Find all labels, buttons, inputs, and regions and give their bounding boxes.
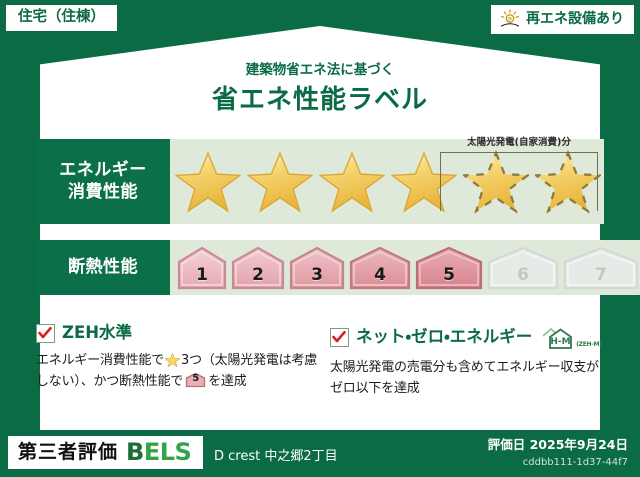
insulation-5-icon-number: 5 [185,371,206,387]
insulation-5-icon: 5 [185,372,206,388]
criteria-zeh-header: ZEH水準 [36,324,324,343]
criteria-net-zero: ネット・ゼロ・エネルギー H-M (ZEH-M) 太陽光発電の売電分も含めてエネ… [330,324,608,399]
insulation-level-5-number: 5 [414,265,484,285]
evaluation-date-value: 2025年9月24日 [530,437,628,452]
insulation-level-2-number: 2 [230,265,286,285]
footer: 第三者評価 BELS D crest 中之郷2丁目 評価日 2025年9月24日… [0,430,640,477]
insulation-performance-row: 断熱性能 1 2 [36,240,604,295]
svg-text:H-M: H-M [551,337,571,347]
insulation-level-2: 2 [230,245,286,291]
label-canvas: 住宅（住棟） D 再エネ設備あり 建築物省エネ法に基づく 省エネ性能ラベル [0,0,640,477]
checkbox-checked-icon [330,328,349,347]
criteria-zeh: ZEH水準 エネルギー消費性能で3つ（太陽光発電は考慮しない）、かつ断熱性能で5… [36,324,324,392]
zeh-m-house-icon: H-M (ZEH-M) [541,324,601,350]
insulation-level-7-number: 7 [562,265,640,285]
energy-label-line2: 消費性能 [68,182,138,203]
zeh-m-caption: (ZEH-M) [575,341,601,350]
property-name: D crest 中之郷2丁目 [214,445,338,464]
insulation-level-4-number: 4 [348,265,412,285]
bels-logo: BELS [126,440,191,464]
star-filled-1 [172,150,244,214]
insulation-level-7: 7 [562,245,640,291]
bels-logo-b: B [126,438,144,466]
third-party-eval-label: 第三者評価 [18,443,118,462]
evaluation-date: 評価日 2025年9月24日 [488,434,628,453]
criteria-net-zero-header: ネット・ゼロ・エネルギー H-M (ZEH-M) [330,324,608,350]
insulation-level-6-number: 6 [486,265,560,285]
energy-performance-label: エネルギー 消費性能 [36,139,170,224]
solar-annotation-label: 太陽光発電(自家消費)分 [440,138,598,148]
label-subtitle: 建築物省エネ法に基づく [0,58,640,78]
solar-annotation-bracket [440,152,598,211]
label-title: 省エネ性能ラベル [0,79,640,116]
criteria-zeh-title: ZEH水準 [62,325,132,342]
insulation-performance-panel: 1 2 3 [170,240,640,295]
insulation-level-4: 4 [348,245,412,291]
star-icon [165,353,180,368]
insulation-level-scale: 1 2 3 [170,245,640,291]
renewable-energy-badge: D 再エネ設備あり [491,5,634,34]
building-type-badge: 住宅（住棟） [6,5,117,31]
energy-performance-panel: 太陽光発電(自家消費)分 [170,139,604,224]
star-filled-3 [316,150,388,214]
evaluation-id: cddbb111-1d37-44f7 [523,457,628,468]
insulation-label-text: 断熱性能 [68,257,138,278]
insulation-level-6: 6 [486,245,560,291]
renewable-energy-label: 再エネ設備あり [526,12,624,26]
insulation-level-3-number: 3 [288,265,346,285]
star-filled-2 [244,150,316,214]
insulation-level-1-number: 1 [176,265,228,285]
criteria-zeh-text-3: を達成 [208,374,246,389]
criteria-net-zero-body: 太陽光発電の売電分も含めてエネルギー収支がゼロ以下を達成 [330,357,608,399]
energy-performance-row: エネルギー 消費性能 太陽光発電(自家消費)分 [36,139,604,224]
insulation-level-5: 5 [414,245,484,291]
criteria-net-zero-title: ネット・ゼロ・エネルギー [356,329,532,346]
svg-text:D: D [508,17,512,23]
checkbox-checked-icon [36,324,55,343]
criteria-zeh-text-1: エネルギー消費性能で [36,353,164,368]
energy-label-line1: エネルギー [59,160,147,181]
insulation-performance-label: 断熱性能 [36,240,170,295]
insulation-level-3: 3 [288,245,346,291]
criteria-zeh-body: エネルギー消費性能で3つ（太陽光発電は考慮しない）、かつ断熱性能で5を達成 [36,350,324,392]
sun-icon: D [499,9,521,29]
evaluation-date-label: 評価日 [488,437,526,452]
bels-logo-els: ELS [144,438,191,466]
insulation-level-1: 1 [176,245,228,291]
bels-certification-box: 第三者評価 BELS [8,436,203,469]
building-type-label: 住宅（住棟） [18,9,105,25]
